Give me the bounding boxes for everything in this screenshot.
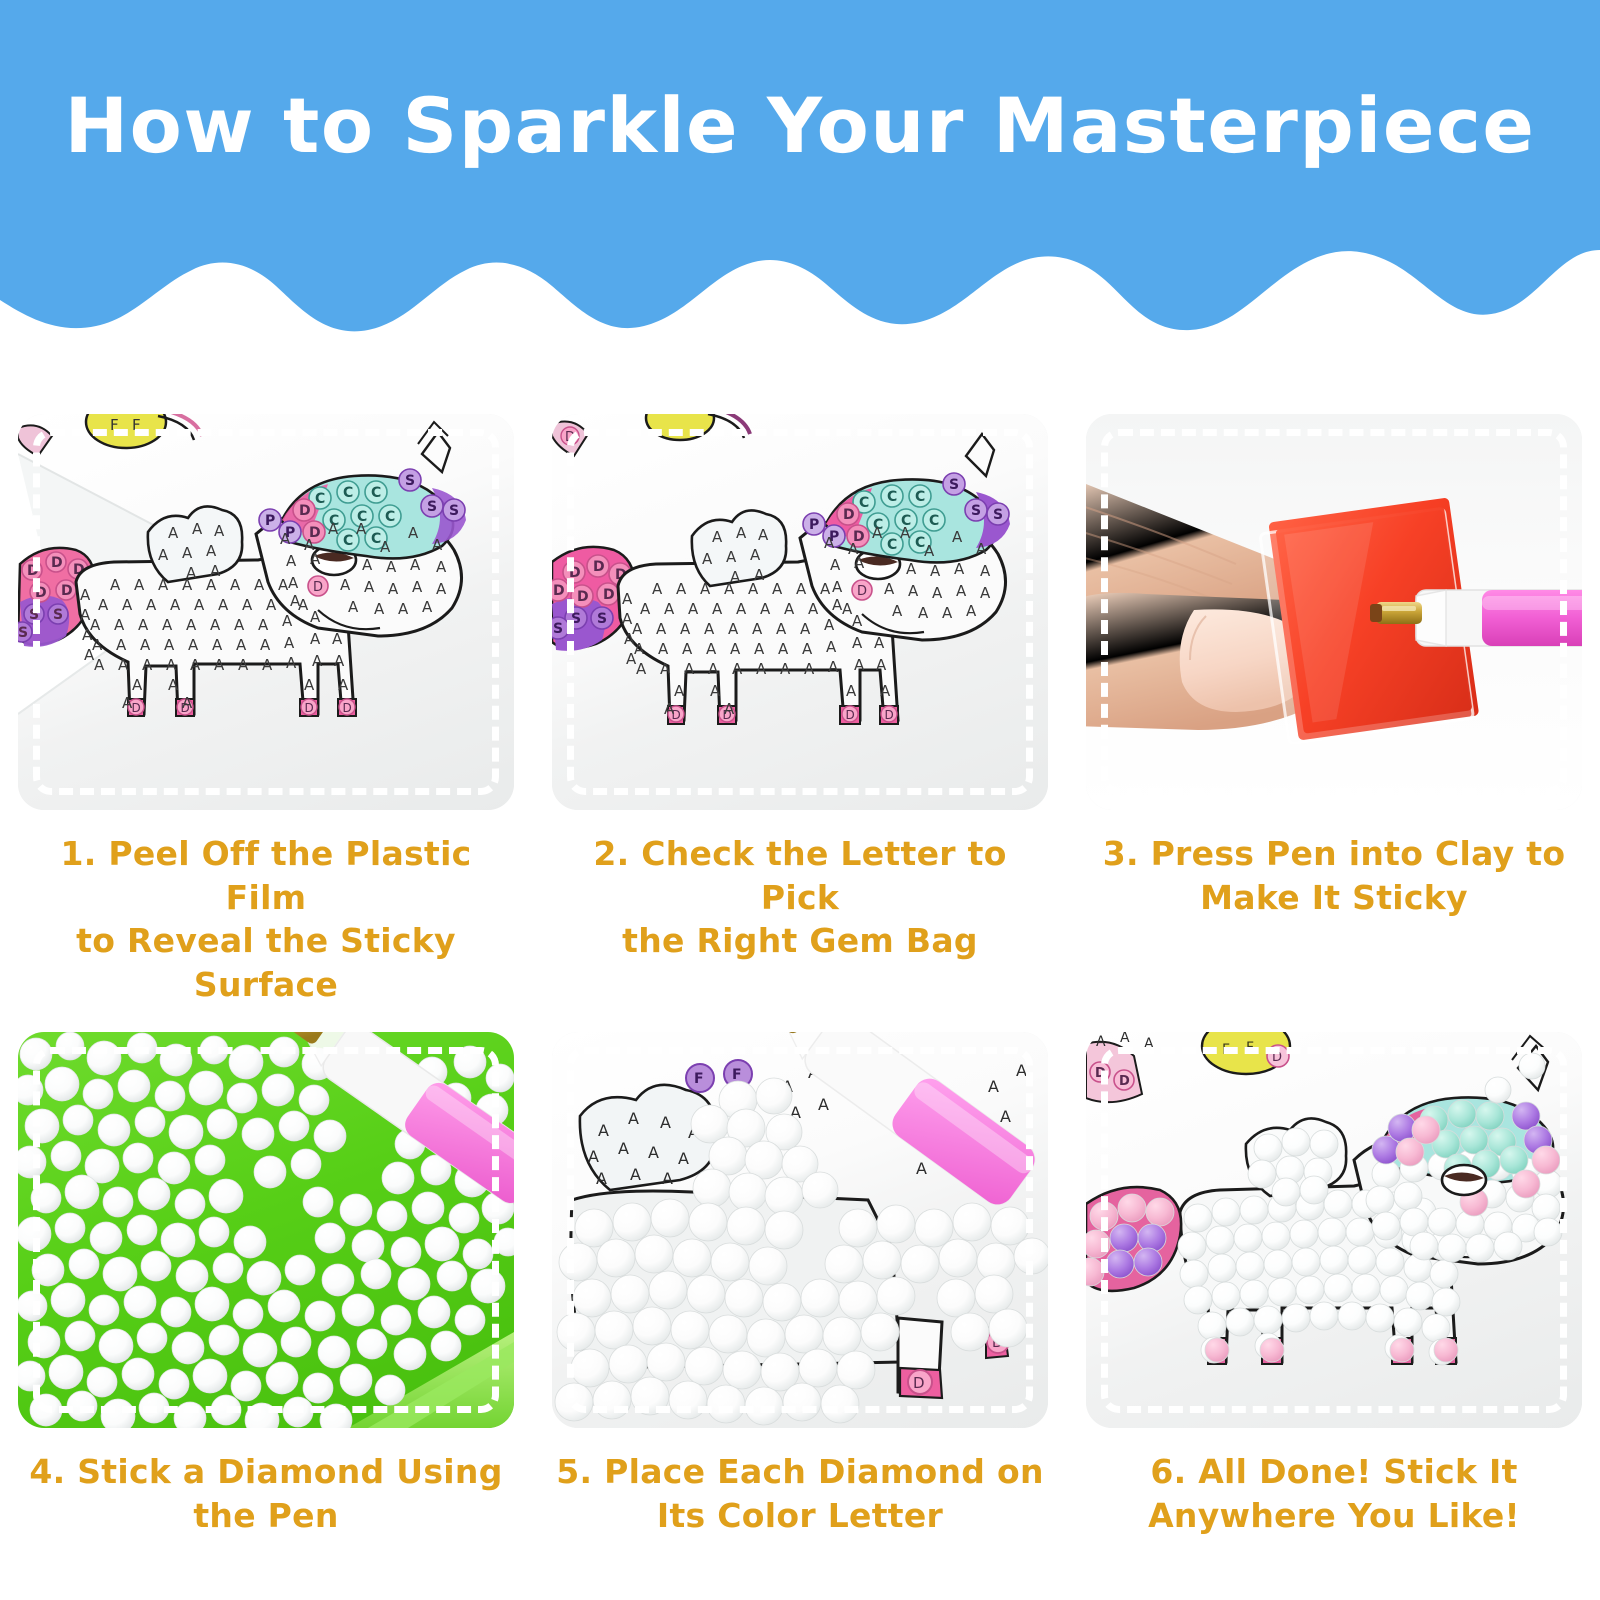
caption-step-4-line-2: the Pen xyxy=(18,1494,514,1538)
svg-text:A: A xyxy=(162,616,173,634)
svg-text:A: A xyxy=(932,584,943,602)
svg-text:A: A xyxy=(760,600,771,618)
svg-text:A: A xyxy=(84,646,95,664)
svg-text:A: A xyxy=(238,656,249,674)
svg-text:D: D xyxy=(299,503,311,519)
svg-text:A: A xyxy=(726,548,737,566)
svg-text:A: A xyxy=(282,612,293,630)
svg-text:D: D xyxy=(27,563,39,579)
svg-text:A: A xyxy=(310,550,321,568)
svg-text:A: A xyxy=(708,660,719,678)
svg-text:A: A xyxy=(142,656,153,674)
svg-text:A: A xyxy=(880,682,891,700)
svg-text:S: S xyxy=(53,607,63,623)
svg-text:A: A xyxy=(674,682,685,700)
svg-text:A: A xyxy=(210,616,221,634)
svg-text:A: A xyxy=(732,660,743,678)
svg-text:A: A xyxy=(824,616,835,634)
step-1: F F D D D D D xyxy=(18,414,514,1006)
svg-text:A: A xyxy=(134,576,145,594)
svg-text:D: D xyxy=(305,701,314,715)
caption-step-2-line-1: 2. Check the Letter to Pick xyxy=(593,834,1006,917)
photo-step-3 xyxy=(1086,414,1582,810)
svg-text:A: A xyxy=(158,546,169,564)
svg-text:A: A xyxy=(210,562,221,580)
svg-text:A: A xyxy=(1120,1032,1130,1046)
svg-text:D: D xyxy=(1095,1066,1106,1081)
svg-text:A: A xyxy=(422,598,433,616)
svg-text:A: A xyxy=(780,660,791,678)
svg-text:A: A xyxy=(954,560,965,578)
svg-text:A: A xyxy=(736,600,747,618)
svg-text:A: A xyxy=(824,534,835,552)
svg-text:A: A xyxy=(628,1109,639,1128)
svg-text:A: A xyxy=(348,598,359,616)
svg-text:P: P xyxy=(809,517,819,533)
svg-text:A: A xyxy=(724,700,735,718)
svg-text:A: A xyxy=(182,694,193,712)
steps-grid: F F D D D D D xyxy=(18,414,1582,1542)
svg-text:A: A xyxy=(776,620,787,638)
svg-text:A: A xyxy=(230,576,241,594)
svg-text:A: A xyxy=(334,652,345,670)
svg-text:A: A xyxy=(658,640,669,658)
svg-text:A: A xyxy=(664,600,675,618)
svg-text:A: A xyxy=(146,596,157,614)
svg-text:A: A xyxy=(410,556,421,574)
svg-text:A: A xyxy=(872,524,883,542)
svg-text:A: A xyxy=(852,612,863,630)
svg-text:A: A xyxy=(158,576,169,594)
svg-text:A: A xyxy=(328,520,339,538)
svg-text:A: A xyxy=(432,536,443,554)
svg-text:A: A xyxy=(756,660,767,678)
caption-step-5-line-1: 5. Place Each Diamond on xyxy=(556,1452,1044,1491)
caption-step-2: 2. Check the Letter to Pick the Right Ge… xyxy=(552,832,1048,963)
svg-text:F: F xyxy=(1222,1042,1230,1058)
svg-text:A: A xyxy=(94,656,105,674)
svg-text:D: D xyxy=(1119,1074,1130,1089)
svg-text:A: A xyxy=(234,616,245,634)
svg-text:A: A xyxy=(640,600,651,618)
svg-text:A: A xyxy=(304,676,315,694)
svg-text:C: C xyxy=(343,533,353,549)
svg-text:A: A xyxy=(190,656,201,674)
svg-text:A: A xyxy=(892,602,903,620)
svg-text:A: A xyxy=(808,600,819,618)
svg-text:A: A xyxy=(656,620,667,638)
svg-text:A: A xyxy=(682,640,693,658)
svg-text:A: A xyxy=(688,600,699,618)
svg-text:A: A xyxy=(212,636,223,654)
caption-step-3-line-2: Make It Sticky xyxy=(1086,876,1582,920)
svg-text:A: A xyxy=(684,660,695,678)
svg-text:A: A xyxy=(956,582,967,600)
svg-text:A: A xyxy=(966,602,977,620)
svg-text:A: A xyxy=(588,1147,599,1166)
svg-text:C: C xyxy=(887,537,897,553)
svg-text:S: S xyxy=(571,611,581,627)
svg-text:A: A xyxy=(876,656,887,674)
svg-text:D: D xyxy=(35,585,47,601)
svg-text:A: A xyxy=(712,600,723,618)
svg-text:A: A xyxy=(332,630,343,648)
svg-text:A: A xyxy=(186,616,197,634)
svg-text:A: A xyxy=(214,522,225,540)
photo-step-2: D D D D D D D S S S xyxy=(552,414,1048,810)
svg-text:A: A xyxy=(704,620,715,638)
svg-text:A: A xyxy=(884,580,895,598)
svg-text:A: A xyxy=(82,626,93,644)
unicorn-template-outline: D D D D D S S S D xyxy=(18,414,514,810)
svg-text:S: S xyxy=(405,473,415,489)
photo-step-6: D D AAA FF D xyxy=(1086,1032,1582,1428)
svg-text:A: A xyxy=(122,596,133,614)
svg-text:A: A xyxy=(298,596,309,614)
header-wave-shape xyxy=(0,0,1600,360)
svg-text:A: A xyxy=(874,634,885,652)
svg-text:D: D xyxy=(343,701,352,715)
svg-text:A: A xyxy=(630,1165,641,1184)
step-5: AAAA AAAA AAA AAA AA AAAA F F xyxy=(552,1032,1048,1542)
svg-text:A: A xyxy=(730,568,741,586)
svg-text:A: A xyxy=(80,586,91,604)
svg-text:A: A xyxy=(802,640,813,658)
svg-text:A: A xyxy=(266,596,277,614)
svg-text:A: A xyxy=(114,616,125,634)
svg-text:S: S xyxy=(993,507,1003,523)
svg-text:A: A xyxy=(618,1139,629,1158)
svg-text:A: A xyxy=(660,1113,671,1132)
svg-text:A: A xyxy=(906,560,917,578)
svg-text:A: A xyxy=(750,546,761,564)
svg-text:A: A xyxy=(168,676,179,694)
svg-text:A: A xyxy=(980,562,991,580)
svg-text:A: A xyxy=(380,538,391,556)
svg-text:A: A xyxy=(288,574,299,592)
svg-text:A: A xyxy=(826,638,837,656)
finished-unicorn-illustration: D D AAA FF D xyxy=(1086,1032,1582,1428)
svg-text:A: A xyxy=(854,656,865,674)
svg-text:A: A xyxy=(1144,1036,1154,1052)
caption-step-6-line-2: Anywhere You Like! xyxy=(1086,1494,1582,1538)
svg-text:A: A xyxy=(286,552,297,570)
svg-text:A: A xyxy=(242,596,253,614)
svg-text:A: A xyxy=(236,636,247,654)
svg-text:A: A xyxy=(286,654,297,672)
step-2: D D D D D D D S S S xyxy=(552,414,1048,1006)
svg-text:A: A xyxy=(730,640,741,658)
svg-text:S: S xyxy=(597,611,607,627)
svg-text:A: A xyxy=(804,660,815,678)
svg-text:A: A xyxy=(710,682,721,700)
svg-text:A: A xyxy=(728,620,739,638)
svg-text:A: A xyxy=(796,580,807,598)
svg-text:A: A xyxy=(784,600,795,618)
svg-text:A: A xyxy=(648,1143,659,1162)
svg-text:P: P xyxy=(265,513,275,529)
svg-text:A: A xyxy=(374,600,385,618)
svg-text:C: C xyxy=(371,485,381,501)
svg-text:A: A xyxy=(110,576,121,594)
caption-step-1: 1. Peel Off the Plastic Film to Reveal t… xyxy=(18,832,514,1006)
svg-text:A: A xyxy=(258,616,269,634)
svg-text:F: F xyxy=(732,1067,742,1083)
header-banner: How to Sparkle Your Masterpiece xyxy=(0,0,1600,360)
caption-step-1-line-2: to Reveal the Sticky Surface xyxy=(18,919,514,1006)
svg-text:D: D xyxy=(565,430,575,445)
step-6: D D AAA FF D xyxy=(1086,1032,1582,1542)
svg-text:A: A xyxy=(916,1159,927,1178)
svg-text:A: A xyxy=(706,640,717,658)
svg-text:A: A xyxy=(754,640,765,658)
svg-text:D: D xyxy=(577,589,589,605)
svg-text:A: A xyxy=(1096,1034,1106,1050)
svg-text:A: A xyxy=(930,562,941,580)
svg-text:D: D xyxy=(857,584,867,599)
svg-text:A: A xyxy=(636,660,647,678)
svg-text:A: A xyxy=(624,630,635,648)
svg-text:D: D xyxy=(1272,1050,1282,1065)
svg-text:A: A xyxy=(664,700,675,718)
svg-text:A: A xyxy=(622,610,633,628)
svg-text:A: A xyxy=(652,580,663,598)
svg-text:A: A xyxy=(622,590,633,608)
photo-step-5: AAAA AAAA AAA AAA AA AAAA F F xyxy=(552,1032,1048,1428)
svg-text:A: A xyxy=(976,540,987,558)
svg-text:A: A xyxy=(206,542,217,560)
svg-text:S: S xyxy=(553,621,563,637)
svg-text:A: A xyxy=(214,656,225,674)
svg-text:A: A xyxy=(828,658,839,676)
svg-text:C: C xyxy=(385,509,395,525)
caption-step-3-line-1: 3. Press Pen into Clay to xyxy=(1103,834,1566,873)
caption-step-5: 5. Place Each Diamond on Its Color Lette… xyxy=(552,1450,1048,1542)
svg-text:A: A xyxy=(364,578,375,596)
svg-text:C: C xyxy=(343,485,353,501)
unicorn-template-letters: D D D D D D D S S S xyxy=(552,414,1048,810)
svg-text:A: A xyxy=(1016,1061,1027,1080)
svg-text:S: S xyxy=(949,477,959,493)
svg-text:D: D xyxy=(569,565,581,581)
svg-text:F: F xyxy=(694,1071,704,1087)
svg-text:A: A xyxy=(398,600,409,618)
svg-text:A: A xyxy=(312,652,323,670)
svg-text:A: A xyxy=(362,556,373,574)
svg-text:D: D xyxy=(132,701,141,715)
svg-text:S: S xyxy=(18,625,28,641)
svg-text:A: A xyxy=(736,524,747,542)
svg-text:A: A xyxy=(752,620,763,638)
svg-text:A: A xyxy=(338,676,349,694)
svg-text:A: A xyxy=(852,634,863,652)
svg-text:A: A xyxy=(186,564,197,582)
caption-step-2-line-2: the Right Gem Bag xyxy=(552,919,1048,963)
svg-text:S: S xyxy=(29,607,39,623)
svg-text:A: A xyxy=(942,604,953,622)
svg-text:C: C xyxy=(315,491,325,507)
svg-text:A: A xyxy=(820,580,831,598)
svg-text:A: A xyxy=(1000,1107,1011,1126)
svg-text:A: A xyxy=(168,524,179,542)
svg-text:A: A xyxy=(140,636,151,654)
svg-text:A: A xyxy=(988,1077,999,1096)
svg-text:A: A xyxy=(116,636,127,654)
svg-text:C: C xyxy=(929,513,939,529)
svg-text:D: D xyxy=(593,559,605,575)
step-3: 3. Press Pen into Clay to Make It Sticky xyxy=(1086,414,1582,1006)
svg-text:A: A xyxy=(702,550,713,568)
row-spacer xyxy=(1086,1006,1582,1032)
svg-text:A: A xyxy=(772,580,783,598)
svg-text:A: A xyxy=(138,616,149,634)
svg-text:A: A xyxy=(280,530,291,548)
caption-step-1-line-1: 1. Peel Off the Plastic Film xyxy=(60,834,471,917)
svg-text:A: A xyxy=(700,580,711,598)
gem-pile-and-pen xyxy=(18,1032,514,1428)
svg-text:D: D xyxy=(885,708,894,722)
svg-text:C: C xyxy=(887,489,897,505)
step-4: 4. Stick a Diamond Using the Pen xyxy=(18,1032,514,1542)
svg-text:A: A xyxy=(262,656,273,674)
svg-text:A: A xyxy=(408,524,419,542)
svg-text:A: A xyxy=(218,596,229,614)
svg-text:A: A xyxy=(122,694,133,712)
svg-text:A: A xyxy=(166,656,177,674)
svg-text:A: A xyxy=(80,606,91,624)
svg-text:A: A xyxy=(846,682,857,700)
svg-text:A: A xyxy=(182,544,193,562)
svg-text:A: A xyxy=(854,554,865,572)
svg-text:A: A xyxy=(754,566,765,584)
svg-text:A: A xyxy=(660,660,671,678)
svg-text:S: S xyxy=(971,503,981,519)
caption-step-3: 3. Press Pen into Clay to Make It Sticky xyxy=(1086,832,1582,924)
svg-text:A: A xyxy=(436,580,447,598)
svg-text:A: A xyxy=(284,634,295,652)
placing-gems-illustration: AAAA AAAA AAA AAA AA AAAA F F xyxy=(552,1032,1048,1428)
svg-text:A: A xyxy=(260,636,271,654)
svg-text:A: A xyxy=(924,542,935,560)
svg-text:A: A xyxy=(194,596,205,614)
svg-text:A: A xyxy=(952,528,963,546)
svg-text:F: F xyxy=(1246,1040,1254,1056)
caption-step-4-line-1: 4. Stick a Diamond Using xyxy=(29,1452,502,1491)
caption-step-6-line-1: 6. All Done! Stick It xyxy=(1150,1452,1517,1491)
svg-text:A: A xyxy=(254,576,265,594)
svg-text:A: A xyxy=(386,558,397,576)
svg-text:A: A xyxy=(436,558,447,576)
svg-text:S: S xyxy=(449,503,459,519)
svg-text:A: A xyxy=(412,578,423,596)
infographic-page: How to Sparkle Your Masterpiece F F xyxy=(0,0,1600,1600)
svg-text:A: A xyxy=(310,608,321,626)
svg-text:A: A xyxy=(832,578,843,596)
svg-text:D: D xyxy=(313,580,323,595)
svg-text:A: A xyxy=(842,600,853,618)
svg-text:A: A xyxy=(680,620,691,638)
svg-text:A: A xyxy=(626,650,637,668)
svg-text:A: A xyxy=(662,1169,673,1188)
svg-text:A: A xyxy=(596,1169,607,1188)
svg-text:C: C xyxy=(915,489,925,505)
caption-step-5-line-2: Its Color Letter xyxy=(552,1494,1048,1538)
photo-step-4 xyxy=(18,1032,514,1428)
svg-text:A: A xyxy=(310,630,321,648)
svg-text:A: A xyxy=(164,636,175,654)
svg-text:A: A xyxy=(388,580,399,598)
svg-text:A: A xyxy=(98,596,109,614)
svg-text:D: D xyxy=(846,708,855,722)
svg-text:A: A xyxy=(778,640,789,658)
svg-text:A: A xyxy=(678,1149,689,1168)
svg-text:A: A xyxy=(192,520,203,538)
hand-clay-pen-illustration xyxy=(1086,414,1582,810)
svg-text:A: A xyxy=(132,676,143,694)
caption-step-6: 6. All Done! Stick It Anywhere You Like! xyxy=(1086,1450,1582,1542)
svg-text:A: A xyxy=(170,596,181,614)
svg-text:A: A xyxy=(908,582,919,600)
svg-text:D: D xyxy=(843,507,855,523)
svg-text:S: S xyxy=(427,499,437,515)
svg-text:A: A xyxy=(712,528,723,546)
svg-text:A: A xyxy=(188,636,199,654)
svg-text:A: A xyxy=(356,520,367,538)
svg-text:A: A xyxy=(918,604,929,622)
svg-text:C: C xyxy=(859,495,869,511)
svg-text:A: A xyxy=(900,524,911,542)
svg-text:A: A xyxy=(598,1121,609,1140)
svg-text:A: A xyxy=(676,580,687,598)
svg-text:A: A xyxy=(800,620,811,638)
row-spacer xyxy=(18,1006,514,1032)
svg-text:D: D xyxy=(51,555,63,571)
svg-text:D: D xyxy=(603,587,615,603)
svg-text:D: D xyxy=(913,1374,925,1392)
svg-text:D: D xyxy=(553,583,565,599)
row-spacer xyxy=(552,1006,1048,1032)
caption-step-4: 4. Stick a Diamond Using the Pen xyxy=(18,1450,514,1542)
page-title: How to Sparkle Your Masterpiece xyxy=(0,88,1600,164)
svg-text:A: A xyxy=(818,1095,829,1114)
svg-text:A: A xyxy=(830,556,841,574)
svg-text:A: A xyxy=(758,526,769,544)
svg-text:A: A xyxy=(980,584,991,602)
svg-text:A: A xyxy=(118,656,129,674)
svg-text:A: A xyxy=(340,576,351,594)
photo-step-1: F F D D D D D xyxy=(18,414,514,810)
svg-text:D: D xyxy=(61,583,73,599)
